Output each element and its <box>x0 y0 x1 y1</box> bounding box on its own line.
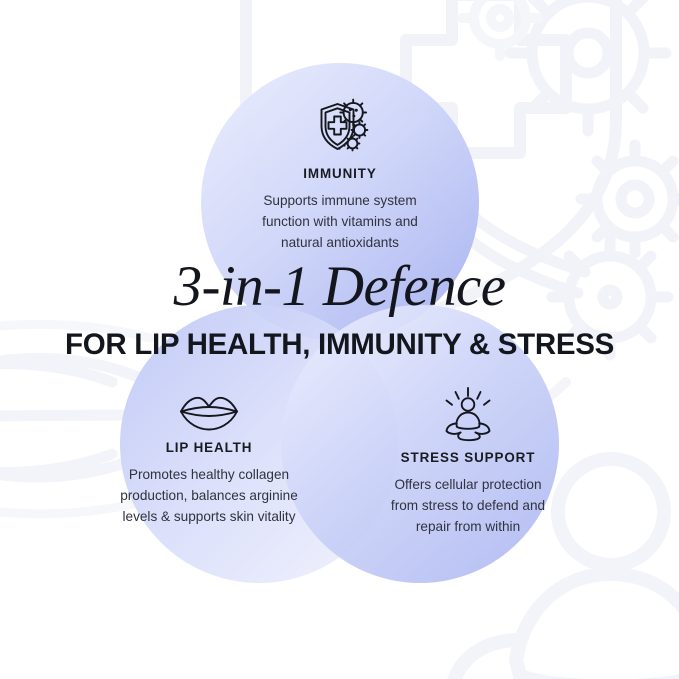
lobe-immunity: IMMUNITY Supports immune system function… <box>215 96 465 253</box>
shield-virus-icon <box>215 96 465 158</box>
headline-block: 3-in-1 Defence FOR LIP HEALTH, IMMUNITY … <box>0 258 679 360</box>
page-subtitle: FOR LIP HEALTH, IMMUNITY & STRESS <box>0 330 679 360</box>
lobe-stress-support: STRESS SUPPORT Offers cellular protectio… <box>343 386 593 537</box>
meditating-person-icon <box>343 386 593 442</box>
lobe-title-lip-health: LIP HEALTH <box>84 441 334 454</box>
infographic-canvas: IMMUNITY Supports immune system function… <box>0 0 679 679</box>
page-title: 3-in-1 Defence <box>0 258 679 315</box>
lobe-title-stress-support: STRESS SUPPORT <box>343 451 593 464</box>
lips-icon <box>84 392 334 432</box>
lobe-lip-health: LIP HEALTH Promotes healthy collagen pro… <box>84 392 334 527</box>
lobe-description-lip-health: Promotes healthy collagen production, ba… <box>84 465 334 527</box>
lobe-title-immunity: IMMUNITY <box>215 167 465 180</box>
lobe-description-immunity: Supports immune system function with vit… <box>215 191 465 253</box>
lobe-description-stress-support: Offers cellular protection from stress t… <box>343 475 593 537</box>
